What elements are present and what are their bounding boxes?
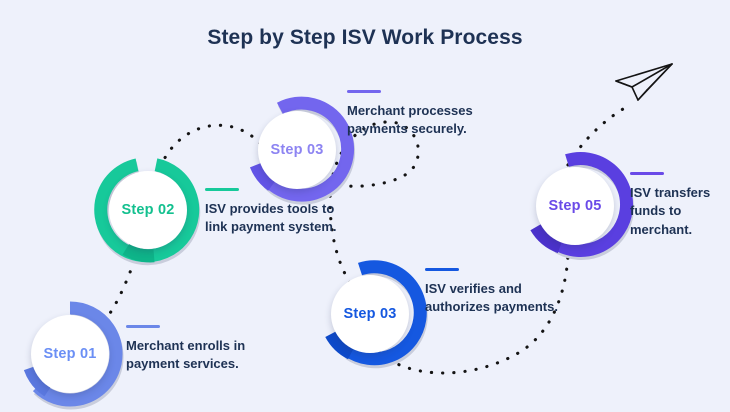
accent-line-step-05 (630, 172, 664, 175)
paper-plane-icon (614, 60, 676, 106)
step-description-text-step-02: ISV provides tools to link payment syste… (205, 200, 355, 237)
step-description-text-step-03-bottom: ISV verifies and authorizes payments. (425, 280, 575, 317)
step-node-step-03-bottom[interactable]: Step 03 (318, 262, 422, 366)
accent-line-step-03-bottom (425, 268, 459, 271)
step-node-step-01[interactable]: Step 01 (18, 302, 122, 406)
accent-line-step-01 (126, 325, 160, 328)
step-description-step-03-bottom: ISV verifies and authorizes payments. (425, 268, 575, 317)
step-label-step-05: Step 05 (523, 154, 627, 258)
step-label-step-03-top: Step 03 (245, 98, 349, 202)
step-description-step-01: Merchant enrolls in payment services. (126, 325, 276, 374)
step-description-text-step-01: Merchant enrolls in payment services. (126, 337, 276, 374)
accent-line-step-02 (205, 188, 239, 191)
accent-line-step-03-top (347, 90, 381, 93)
step-label-step-03-bottom: Step 03 (318, 262, 422, 366)
step-node-step-05[interactable]: Step 05 (523, 154, 627, 258)
step-label-step-02: Step 02 (96, 158, 200, 262)
step-node-step-03-top[interactable]: Step 03 (245, 98, 349, 202)
step-description-step-03-top: Merchant processes payments securely. (347, 90, 507, 139)
step-node-step-02[interactable]: Step 02 (96, 158, 200, 262)
step-label-step-01: Step 01 (18, 302, 122, 406)
step-description-text-step-05: ISV transfers funds to merchant. (630, 184, 730, 239)
step-description-text-step-03-top: Merchant processes payments securely. (347, 102, 507, 139)
infographic-canvas: Step by Step ISV Work Process Step 01 (0, 0, 730, 412)
step-description-step-05: ISV transfers funds to merchant. (630, 172, 730, 239)
